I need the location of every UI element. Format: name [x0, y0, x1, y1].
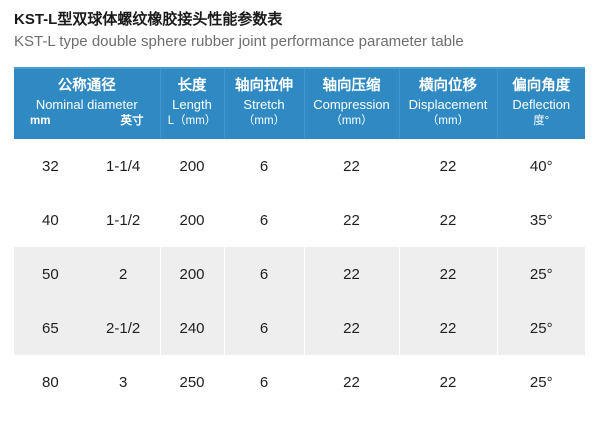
cell-nominal-diameter-inch: 1-1/4: [87, 158, 160, 175]
column-header-displacement: 横向位移 Displacement （mm）: [399, 68, 497, 139]
column-header-stretch-cn: 轴向拉伸: [229, 77, 300, 96]
column-header-unit-mm: mm: [30, 113, 50, 129]
table-row: 652-1/22406222225°: [14, 301, 585, 355]
cell-nominal-diameter-mm: 80: [14, 374, 87, 391]
column-header-length-unit: L（mm）: [165, 113, 220, 129]
column-header-unit-inch: 英寸: [121, 113, 144, 129]
nominal-diameter-split: 652-1/2: [14, 301, 160, 355]
cell-stretch: 6: [224, 355, 304, 409]
cell-length: 200: [160, 139, 224, 193]
column-header-length-cn: 长度: [165, 77, 220, 96]
cell-stretch: 6: [224, 193, 304, 247]
cell-stretch: 6: [224, 139, 304, 193]
cell-nominal-diameter: 502: [14, 247, 160, 301]
cell-length: 250: [160, 355, 224, 409]
table-row: 321-1/42006222240°: [14, 139, 585, 193]
column-header-displacement-en: Displacement: [404, 96, 493, 113]
cell-displacement: 22: [399, 139, 497, 193]
cell-nominal-diameter-mm: 32: [14, 158, 87, 175]
performance-table: 公称通径 Nominal diameter mm 英寸 长度 Length: [14, 67, 585, 409]
cell-deflection: 35°: [497, 193, 585, 247]
cell-length: 200: [160, 193, 224, 247]
cell-compression: 22: [304, 301, 399, 355]
column-header-length-en: Length: [165, 96, 220, 113]
nominal-diameter-split: 502: [14, 247, 160, 301]
cell-deflection: 25°: [497, 247, 585, 301]
cell-nominal-diameter: 401-1/2: [14, 193, 160, 247]
column-header-stretch-unit: （mm）: [229, 113, 300, 129]
column-header-deflection-unit: 度°: [502, 113, 582, 129]
column-header-displacement-unit: （mm）: [404, 113, 493, 129]
cell-nominal-diameter-inch: 2: [87, 266, 160, 283]
page-title-en: KST-L type double sphere rubber joint pe…: [14, 31, 590, 53]
nominal-diameter-split: 321-1/4: [14, 139, 160, 193]
cell-compression: 22: [304, 355, 399, 409]
column-header-compression-cn: 轴向压缩: [309, 77, 395, 96]
cell-length: 200: [160, 247, 224, 301]
cell-stretch: 6: [224, 247, 304, 301]
cell-length: 240: [160, 301, 224, 355]
cell-nominal-diameter-mm: 40: [14, 212, 87, 229]
page-root: KST-L型双球体螺纹橡胶接头性能参数表 KST-L type double s…: [0, 0, 600, 436]
column-header-displacement-cn: 横向位移: [404, 77, 493, 96]
column-header-nominal-diameter-units: mm 英寸: [18, 113, 156, 129]
cell-nominal-diameter: 803: [14, 355, 160, 409]
cell-compression: 22: [304, 193, 399, 247]
table-row: 401-1/22006222235°: [14, 193, 585, 247]
cell-stretch: 6: [224, 301, 304, 355]
column-header-nominal-diameter-en: Nominal diameter: [18, 96, 156, 113]
column-header-compression-unit: （mm）: [309, 113, 395, 129]
column-header-length: 长度 Length L（mm）: [160, 68, 224, 139]
cell-compression: 22: [304, 247, 399, 301]
column-header-nominal-diameter-cn: 公称通径: [18, 77, 156, 96]
cell-displacement: 22: [399, 247, 497, 301]
table-header: 公称通径 Nominal diameter mm 英寸 长度 Length: [14, 68, 585, 139]
column-header-stretch-en: Stretch: [229, 96, 300, 113]
column-header-compression: 轴向压缩 Compression （mm）: [304, 68, 399, 139]
table-body: 321-1/42006222240°401-1/22006222235°5022…: [14, 139, 585, 409]
cell-displacement: 22: [399, 301, 497, 355]
column-header-deflection-en: Deflection: [502, 96, 582, 113]
cell-nominal-diameter-inch: 3: [87, 374, 160, 391]
column-header-nominal-diameter: 公称通径 Nominal diameter mm 英寸: [14, 68, 160, 139]
table-header-row: 公称通径 Nominal diameter mm 英寸 长度 Length: [14, 68, 585, 139]
cell-nominal-diameter-mm: 65: [14, 320, 87, 337]
cell-nominal-diameter-inch: 2-1/2: [87, 320, 160, 337]
table-row: 5022006222225°: [14, 247, 585, 301]
column-header-stretch: 轴向拉伸 Stretch （mm）: [224, 68, 304, 139]
cell-displacement: 22: [399, 355, 497, 409]
cell-nominal-diameter: 321-1/4: [14, 139, 160, 193]
page-title-cn: KST-L型双球体螺纹橡胶接头性能参数表: [14, 10, 590, 30]
nominal-diameter-split: 803: [14, 355, 160, 409]
cell-deflection: 25°: [497, 355, 585, 409]
cell-nominal-diameter-inch: 1-1/2: [87, 212, 160, 229]
cell-deflection: 40°: [497, 139, 585, 193]
table-row: 8032506222225°: [14, 355, 585, 409]
cell-nominal-diameter: 652-1/2: [14, 301, 160, 355]
nominal-diameter-split: 401-1/2: [14, 193, 160, 247]
cell-deflection: 25°: [497, 301, 585, 355]
column-header-deflection-cn: 偏向角度: [502, 77, 582, 96]
column-header-deflection: 偏向角度 Deflection 度°: [497, 68, 585, 139]
cell-compression: 22: [304, 139, 399, 193]
title-block: KST-L型双球体螺纹橡胶接头性能参数表 KST-L type double s…: [14, 10, 590, 53]
cell-nominal-diameter-mm: 50: [14, 266, 87, 283]
column-header-compression-en: Compression: [309, 96, 395, 113]
performance-table-wrap: 公称通径 Nominal diameter mm 英寸 长度 Length: [14, 67, 585, 409]
cell-displacement: 22: [399, 193, 497, 247]
